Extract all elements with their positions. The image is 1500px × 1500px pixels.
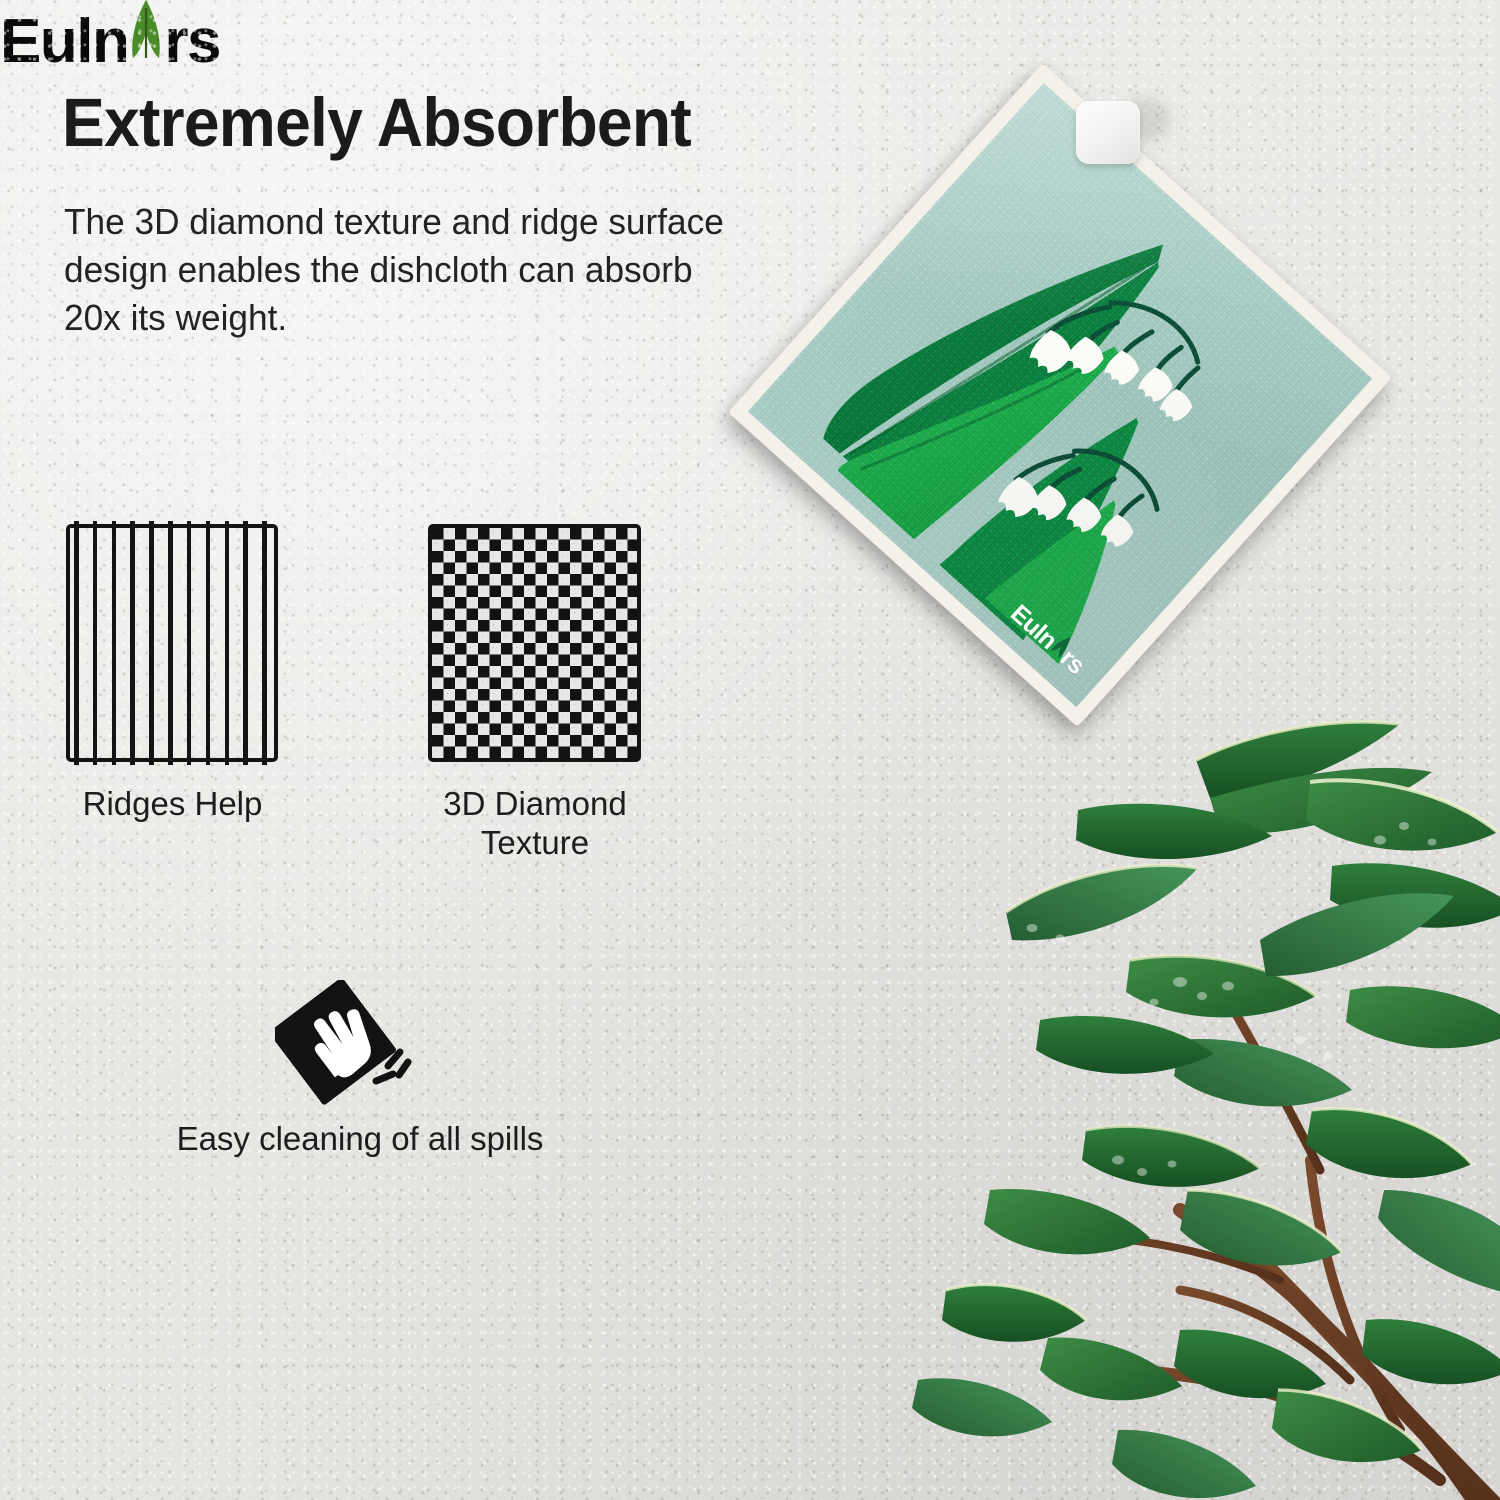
feature-label-ridges: Ridges Help	[25, 785, 320, 824]
page-title: Extremely Absorbent	[62, 88, 899, 157]
ridges-icon-bars	[74, 521, 270, 765]
brand-logo: Euln rs	[0, 0, 1500, 74]
brand-name-suffix: rs	[164, 11, 220, 73]
feature-label-diamond: 3D Diamond Texture	[395, 785, 675, 863]
dishcloth-artwork	[748, 83, 1372, 707]
product-infographic: Extremely Absorbent The 3D diamond textu…	[0, 0, 1500, 1500]
description-text: The 3D diamond texture and ridge surface…	[64, 198, 865, 343]
dishcloth-product: Euln rs	[728, 63, 1392, 727]
brand-name-prefix: Euln	[0, 11, 128, 73]
hand-wiping-cloth-icon	[275, 980, 425, 1110]
decorative-plant	[880, 690, 1500, 1500]
leaf-icon	[126, 0, 166, 62]
adhesive-wall-hook	[1076, 101, 1140, 164]
diamond-mesh-icon	[428, 524, 641, 762]
diamond-icon-pattern	[432, 528, 637, 758]
ridges-lines-icon	[66, 524, 278, 762]
dishcloth-panel: Euln rs	[728, 63, 1392, 727]
feature-label-wipe: Easy cleaning of all spills	[80, 1120, 640, 1159]
diamond-icon-frame	[428, 524, 641, 762]
